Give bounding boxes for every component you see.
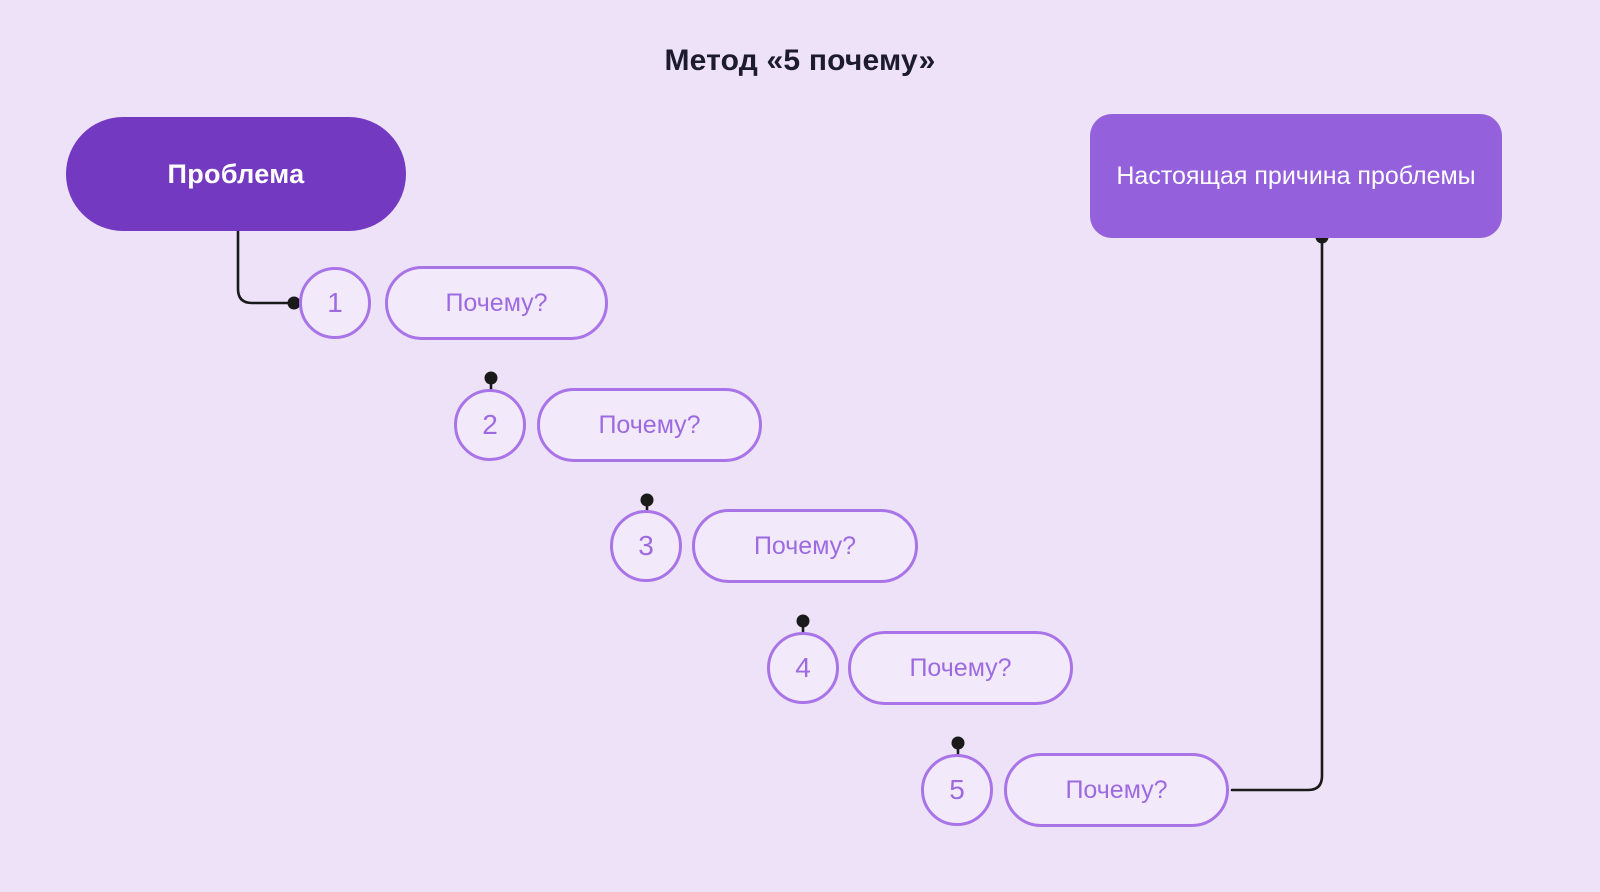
step-circle-3[interactable]: 3 xyxy=(610,510,682,582)
problem-label: Проблема xyxy=(168,159,305,190)
step-label-5: Почему? xyxy=(1065,776,1167,805)
step-label-1: Почему? xyxy=(445,289,547,318)
edge-problem-to-1 xyxy=(238,231,296,303)
connector-dot-4 xyxy=(797,615,810,628)
step-circle-5[interactable]: 5 xyxy=(921,754,993,826)
step-number-5: 5 xyxy=(949,774,965,806)
step-pill-2[interactable]: Почему? xyxy=(537,388,762,462)
edge-5-to-root-cause xyxy=(1232,238,1322,790)
step-number-4: 4 xyxy=(795,652,811,684)
step-label-2: Почему? xyxy=(598,411,700,440)
step-pill-5[interactable]: Почему? xyxy=(1004,753,1229,827)
step-number-1: 1 xyxy=(327,287,343,319)
root-cause-node[interactable]: Настоящая причина проблемы xyxy=(1090,114,1502,238)
step-number-3: 3 xyxy=(638,530,654,562)
page-title: Метод «5 почему» xyxy=(0,44,1600,78)
connector-dot-5 xyxy=(952,737,965,750)
step-pill-4[interactable]: Почему? xyxy=(848,631,1073,705)
step-circle-2[interactable]: 2 xyxy=(454,389,526,461)
step-circle-4[interactable]: 4 xyxy=(767,632,839,704)
step-pill-1[interactable]: Почему? xyxy=(385,266,608,340)
connector-dot-3 xyxy=(641,494,654,507)
step-number-2: 2 xyxy=(482,409,498,441)
root-cause-label: Настоящая причина проблемы xyxy=(1116,160,1475,192)
step-circle-1[interactable]: 1 xyxy=(299,267,371,339)
step-label-4: Почему? xyxy=(909,654,1011,683)
connector-dot-2 xyxy=(485,372,498,385)
problem-node[interactable]: Проблема xyxy=(66,117,406,231)
step-pill-3[interactable]: Почему? xyxy=(692,509,918,583)
diagram-canvas: Метод «5 почему» Проблема На xyxy=(0,0,1600,892)
step-label-3: Почему? xyxy=(754,532,856,561)
